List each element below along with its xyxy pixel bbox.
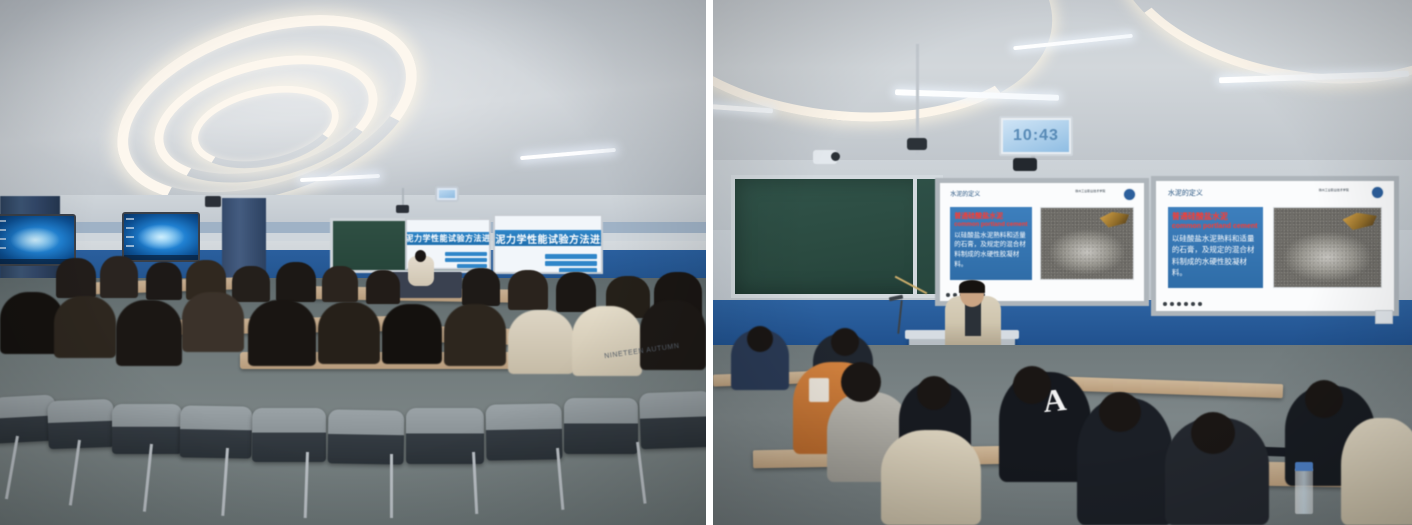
slide-term-cn-2: 普通硅酸盐水泥 <box>1172 211 1259 222</box>
wall-clock-display[interactable]: 10:43 <box>999 116 1073 156</box>
student-row-back-7 <box>322 266 358 302</box>
right-student-3-head <box>917 376 951 410</box>
slide-chip-1b <box>445 258 487 262</box>
chair-4[interactable] <box>180 405 253 458</box>
toolbar2-board-icon[interactable] <box>1191 302 1195 306</box>
desktop-glow-2 <box>137 224 184 250</box>
wall-monitor-1[interactable] <box>0 214 76 266</box>
right-student-2-head <box>831 328 859 356</box>
chair-8[interactable] <box>486 403 563 460</box>
wall-monitor-2[interactable] <box>122 212 200 262</box>
desktop-icon-column-2 <box>126 218 133 250</box>
jacket-letter-a: A <box>1041 381 1068 420</box>
left-teacher-head <box>415 250 426 262</box>
student-row-mid-10 <box>572 306 642 376</box>
photo-gutter <box>706 0 713 525</box>
chair-leg-6 <box>390 454 393 518</box>
school-name-text-1: 徐州工业职业技术学院 <box>1075 189 1105 193</box>
chair-3[interactable] <box>112 404 182 454</box>
toolbar-dot-icon-1[interactable] <box>946 293 950 297</box>
slide-image-1 <box>1040 207 1134 280</box>
slide-toolbar-2[interactable] <box>1163 299 1234 308</box>
student-row-mid-9 <box>508 310 574 374</box>
student-row-mid-8 <box>444 304 506 366</box>
right-student-beige <box>881 430 981 525</box>
student-row-back-10 <box>508 270 548 310</box>
student-row-mid-4 <box>182 292 244 352</box>
left-classroom-photo: 水泥力学性能试验方法进展 水泥力学性能试验方法进展 <box>0 0 706 525</box>
toolbar2-dot-icon-1[interactable] <box>1163 302 1167 306</box>
ceiling-speaker-left <box>205 196 221 207</box>
ceiling-mic-head <box>907 138 927 150</box>
right-student-1-head <box>747 326 773 352</box>
toolbar2-close-icon[interactable] <box>1184 302 1188 306</box>
slide-text-block-1: 普通硅酸盐水泥 common portland cement 以硅酸盐水泥熟料和… <box>950 207 1032 280</box>
chair-9[interactable] <box>564 398 638 454</box>
slide-chip-1a <box>445 252 487 256</box>
right-classroom-photo: 10:43 水泥的定义 徐州工业职业技术学院 普通硅酸盐水泥 common po… <box>713 0 1412 525</box>
right-student-4-head <box>1099 392 1141 432</box>
left-slide-title-2: 水泥力学性能试验方法进展 <box>495 230 601 246</box>
slide-heading-2: 水泥的定义 <box>1168 188 1203 198</box>
ceiling-camera-2-right <box>1013 158 1037 171</box>
student-row-back-6 <box>276 262 316 302</box>
wall-panel-right <box>1375 310 1393 324</box>
toolbar2-dot-icon-2[interactable] <box>1170 302 1174 306</box>
slide-body-cn-2: 以硅酸盐水泥熟料和适量的石膏，及规定的混合材料制成的水硬性胶凝材料。 <box>1172 233 1259 278</box>
student-row-back-9 <box>462 268 500 306</box>
right-student-5-head <box>1191 412 1235 454</box>
desktop-glow-1 <box>10 227 60 254</box>
slide-term-en-1: common portland cement <box>954 222 1028 228</box>
left-ppt-screen-2[interactable]: 水泥力学性能试验方法进展 <box>493 214 603 274</box>
student-row-mid-6 <box>318 302 380 364</box>
student-row-back-5 <box>232 266 270 302</box>
student-row-mid-3 <box>116 300 182 366</box>
slide-chip-2b <box>545 261 597 266</box>
student-row-mid-7 <box>382 304 442 364</box>
right-teacher-hair <box>959 280 985 293</box>
slide-image-2 <box>1273 207 1382 288</box>
orange-jacket-letter <box>809 378 829 402</box>
ceiling-camera-lens-right <box>831 152 840 161</box>
water-bottle-cap <box>1295 462 1313 471</box>
desktop-icon-column-1 <box>0 220 6 254</box>
slide-heading-1: 水泥的定义 <box>950 189 980 198</box>
student-row-mid-5 <box>248 300 316 366</box>
chair-10[interactable] <box>639 391 706 449</box>
water-bottle[interactable] <box>1295 468 1313 514</box>
left-slide-title-1: 水泥力学性能试验方法进展 <box>407 232 489 245</box>
chair-5[interactable] <box>252 408 326 462</box>
toolbar2-pen-icon[interactable] <box>1177 302 1181 306</box>
student-row-back-3 <box>146 262 182 300</box>
slide-term-cn-1: 普通硅酸盐水泥 <box>954 211 1028 221</box>
student-row-back-2 <box>100 256 138 298</box>
chair-2[interactable] <box>47 399 115 449</box>
slide-chip-2a <box>545 254 597 259</box>
right-student-7-beige <box>1341 418 1412 525</box>
school-logo-icon-1 <box>1123 188 1136 201</box>
slide-body-cn-1: 以硅酸盐水泥熟料和适量的石膏，及规定的混合材料制成的水硬性胶凝材料。 <box>954 231 1028 270</box>
student-row-back-11 <box>556 272 596 312</box>
toolbar2-settings-icon[interactable] <box>1198 302 1202 306</box>
slide-text-block-2: 普通硅酸盐水泥 common portland cement 以硅酸盐水泥熟料和… <box>1168 207 1263 288</box>
taskbar-2 <box>124 255 198 260</box>
student-row-mid-11 <box>640 300 706 370</box>
school-name-text-2: 徐州工业职业技术学院 <box>1319 188 1349 192</box>
right-student-orange-head <box>841 362 881 402</box>
photo-pair-figure: 水泥力学性能试验方法进展 水泥力学性能试验方法进展 <box>0 0 1412 525</box>
student-row-back-1 <box>56 258 96 298</box>
small-wall-display-left[interactable] <box>435 186 459 202</box>
student-row-back-8 <box>366 270 400 304</box>
slide-term-en-2: common portland cement <box>1172 223 1259 230</box>
ceiling-camera-left <box>396 205 409 213</box>
clock-screen: 10:43 <box>1003 120 1069 152</box>
clock-time-text: 10:43 <box>1013 127 1059 145</box>
interactive-display-2[interactable]: 水泥的定义 徐州工业职业技术学院 普通硅酸盐水泥 common portland… <box>1151 176 1399 316</box>
student-row-mid-2 <box>54 296 116 358</box>
right-student-6-head <box>1305 380 1343 418</box>
